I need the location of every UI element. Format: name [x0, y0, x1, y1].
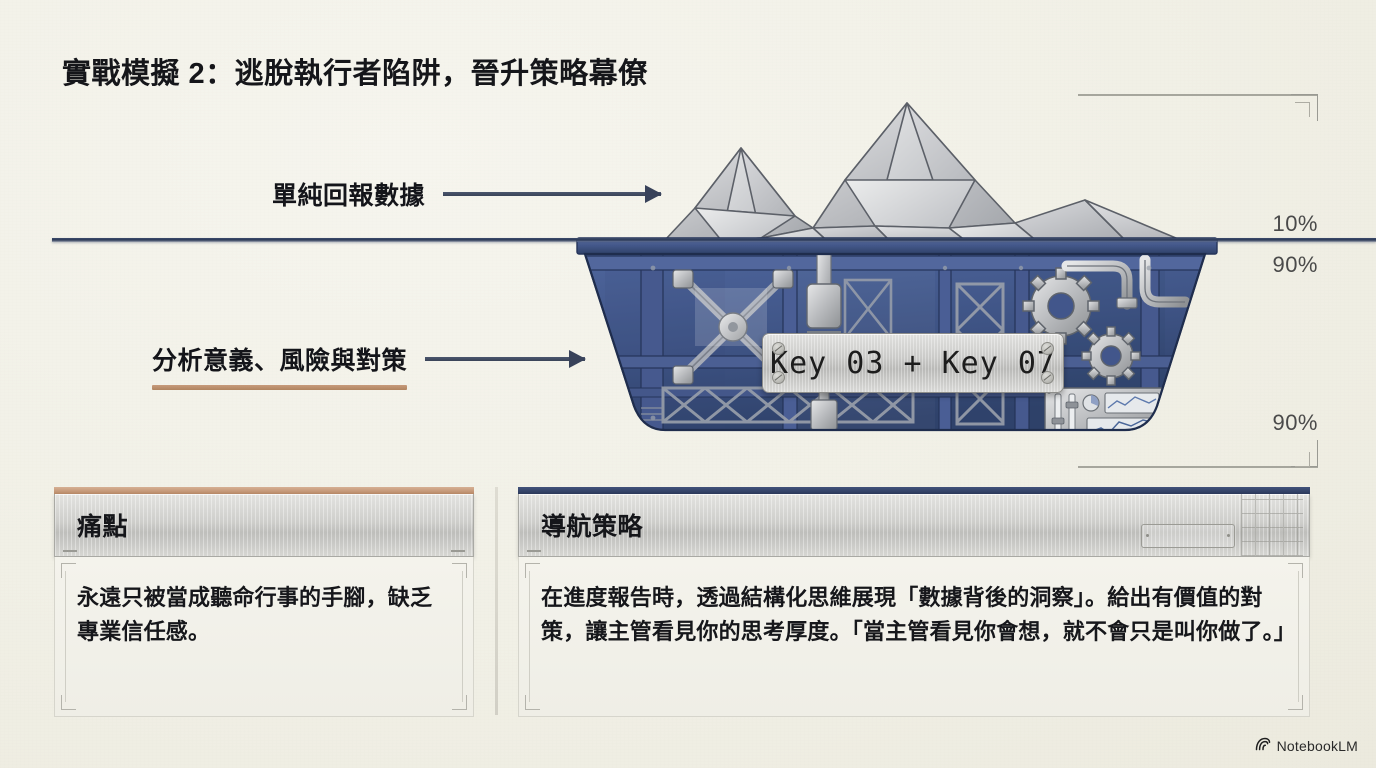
callout-below-water: 分析意義、風險與對策: [152, 341, 585, 377]
card-accent-bar: [518, 487, 1310, 494]
card-pain-point-text: 永遠只被當成聽命行事的手腳，缺乏專業信任感。: [77, 581, 451, 649]
card-navigation-strategy-title: 導航策略: [519, 507, 643, 543]
frame-corner-top-right-inner-icon: [1295, 102, 1310, 117]
callout-above-water: 單純回報數據: [272, 176, 661, 212]
header-tick-icon: [527, 550, 541, 552]
corner-bracket-icon: [1288, 563, 1303, 578]
corner-bracket-icon: [525, 563, 540, 578]
card-pain-point-title: 痛點: [55, 507, 128, 543]
corner-bracket-icon: [61, 695, 76, 710]
key-plate: Key 03 + Key 07: [762, 333, 1064, 393]
corner-bracket-icon: [1288, 695, 1303, 710]
iceberg-illustration: [545, 88, 1245, 488]
percent-label-top: 10%: [1272, 211, 1318, 237]
frame-corner-bottom-right-inner-icon: [1295, 452, 1310, 467]
watermark: NotebookLM: [1255, 737, 1358, 754]
card-pain-point: 痛點 永遠只被當成聽命行事的手腳，缺乏專業信任感。: [54, 487, 474, 717]
key-plate-text: Key 03 + Key 07: [770, 346, 1056, 381]
body-edge-line: [1298, 571, 1299, 702]
frame-corner-bottom-right-icon: [1291, 440, 1318, 467]
corner-bracket-icon: [61, 563, 76, 578]
corner-bracket-icon: [452, 563, 467, 578]
right-arrow-icon: [425, 357, 585, 361]
notebooklm-logo-icon: [1255, 737, 1271, 754]
card-divider: [495, 487, 498, 715]
screw-icon: [1041, 342, 1054, 355]
slide-root: 實戰模擬 2：逃脫執行者陷阱，晉升策略幕僚: [0, 0, 1376, 768]
watermark-label: NotebookLM: [1277, 738, 1358, 754]
card-accent-bar: [54, 487, 474, 494]
corner-bracket-icon: [525, 695, 540, 710]
header-plate-icon: [1141, 524, 1235, 548]
card-pain-point-header: 痛點: [54, 494, 474, 557]
corner-bracket-icon: [452, 695, 467, 710]
header-tick-icon: [63, 550, 77, 552]
screw-icon: [1041, 371, 1054, 384]
body-edge-line: [65, 571, 66, 702]
callout-below-water-label: 分析意義、風險與對策: [152, 347, 407, 375]
body-edge-line: [529, 571, 530, 702]
page-title: 實戰模擬 2：逃脫執行者陷阱，晉升策略幕僚: [62, 50, 648, 92]
card-pain-point-body: 永遠只被當成聽命行事的手腳，缺乏專業信任感。: [54, 557, 474, 717]
screw-icon: [772, 342, 785, 355]
percent-label-lower: 90%: [1272, 410, 1318, 436]
callout-underline: [152, 385, 407, 390]
body-edge-line: [462, 571, 463, 702]
screw-icon: [772, 371, 785, 384]
card-navigation-strategy-header: 導航策略: [518, 494, 1310, 557]
card-navigation-strategy: 導航策略 在進度報告時，透過結構化思維展現「數據背後的洞察」。給出有價值的對策，…: [518, 487, 1310, 717]
header-grid-pattern-icon: [1241, 494, 1303, 556]
card-navigation-strategy-body: 在進度報告時，透過結構化思維展現「數據背後的洞察」。給出有價值的對策，讓主管看見…: [518, 557, 1310, 717]
right-arrow-icon: [443, 192, 661, 196]
callout-above-water-label: 單純回報數據: [272, 182, 425, 210]
waterline-divider: [52, 238, 1376, 242]
percent-label-middle: 90%: [1272, 252, 1318, 278]
card-navigation-strategy-text: 在進度報告時，透過結構化思維展現「數據背後的洞察」。給出有價值的對策，讓主管看見…: [541, 581, 1287, 649]
header-tick-icon: [451, 550, 465, 552]
frame-corner-top-right-icon: [1291, 94, 1318, 121]
